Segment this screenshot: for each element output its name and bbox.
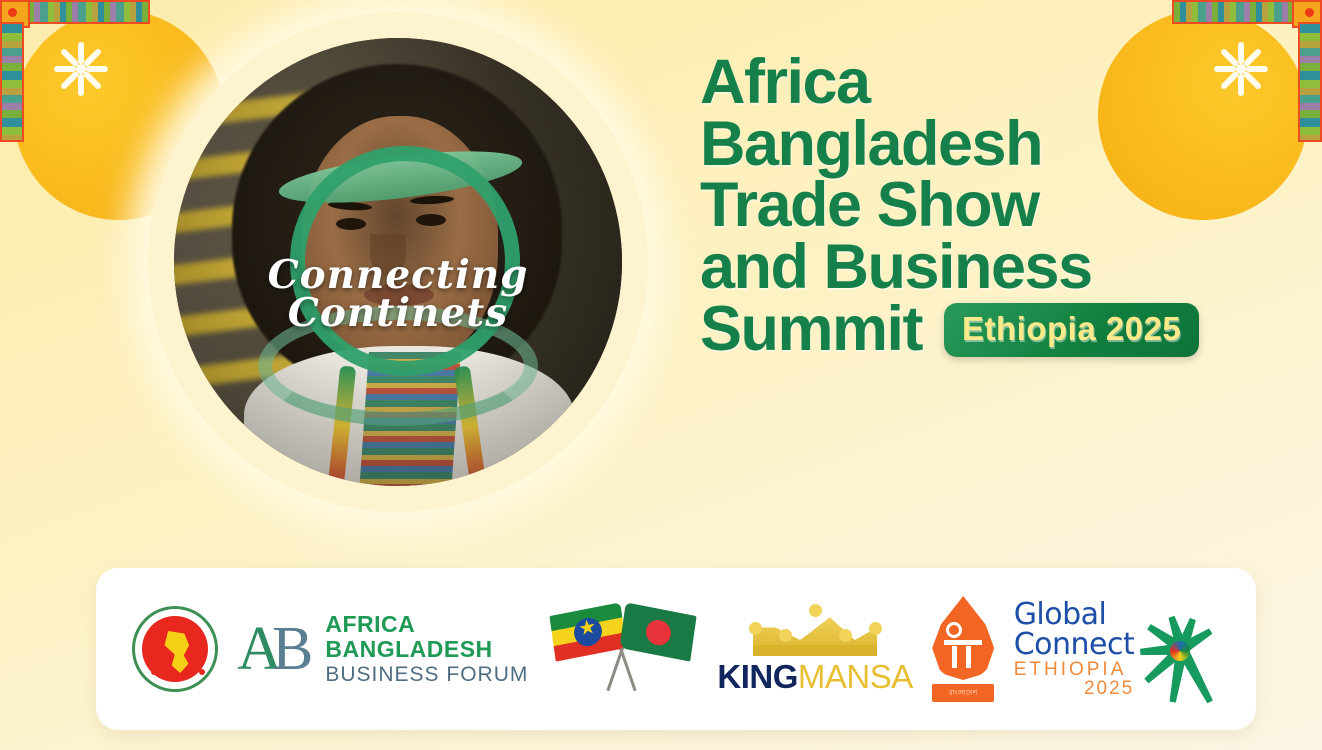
- hero-photo: Connecting Continets: [174, 38, 622, 486]
- woven-border-horizontal: [0, 0, 150, 24]
- sponsor-bar: AB AFRICA BANGLADESH BUSINESS FORUM: [96, 568, 1256, 730]
- abf-line-2: BANGLADESH: [325, 637, 528, 662]
- red-dot-icon: [1305, 8, 1314, 17]
- kingmansa-bold: KING: [717, 658, 798, 695]
- crown-icon: [745, 602, 885, 656]
- tagline: Connecting Continets: [174, 256, 622, 332]
- bangladesh-flag-icon: [619, 602, 696, 661]
- status-badge: Ethiopia 2025: [944, 303, 1199, 357]
- headline-line-3: Trade Show: [700, 175, 1280, 237]
- global-connect-line-1: Global: [1014, 600, 1135, 630]
- headline-line-4: and Business: [700, 237, 1280, 299]
- global-connect-line-4: 2025: [1014, 679, 1135, 698]
- headline-block: Africa Bangladesh Trade Show and Busines…: [700, 52, 1280, 361]
- flame-caption: বাংলাদেশ: [932, 684, 994, 702]
- event-poster: Connecting Continets Africa Bangladesh T…: [0, 0, 1322, 750]
- flower-starburst-icon: [50, 38, 112, 100]
- corner-decoration-top-left: [0, 0, 160, 145]
- sponsor-logo-flame-emblem[interactable]: বাংলাদেশ: [932, 596, 994, 702]
- crossed-flags-icon: [548, 603, 698, 695]
- bangladesh-map-icon: [163, 631, 193, 673]
- sponsor-logo-kingmansa[interactable]: KINGMANSA: [717, 602, 912, 696]
- bangladesh-government-seal-icon: [132, 606, 218, 692]
- headline-line-5: Summit: [700, 299, 922, 361]
- woven-border-vertical: [0, 22, 24, 142]
- abf-monogram-icon: AB: [237, 618, 315, 680]
- woven-border-horizontal: [1172, 0, 1322, 24]
- page-title: Africa Bangladesh Trade Show and Busines…: [700, 52, 1280, 361]
- global-connect-line-3: ETHIOPIA: [1014, 660, 1135, 679]
- sponsor-logo-global-connect-ethiopia[interactable]: Global Connect ETHIOPIA 2025: [1014, 600, 1221, 698]
- sponsor-logo-crossed-flags[interactable]: [548, 603, 698, 695]
- kingmansa-light: MANSA: [798, 658, 913, 695]
- radial-burst-icon: [1138, 603, 1220, 695]
- global-connect-line-2: Connect: [1014, 630, 1135, 660]
- sponsor-logo-africa-bangladesh-business-forum[interactable]: AB AFRICA BANGLADESH BUSINESS FORUM: [237, 612, 528, 686]
- woven-border-vertical: [1298, 22, 1322, 142]
- abf-line-3: BUSINESS FORUM: [325, 663, 528, 686]
- tagline-line-2: Continets: [174, 294, 622, 332]
- headline-line-2: Bangladesh: [700, 114, 1280, 176]
- abf-line-1: AFRICA: [325, 612, 528, 637]
- tagline-line-1: Connecting: [174, 256, 622, 294]
- hero-photo-frame: Connecting Continets: [148, 12, 648, 512]
- sponsor-logo-bangladesh-government[interactable]: [132, 606, 218, 692]
- flame-icon: [932, 596, 994, 680]
- ethiopia-flag-icon: [549, 602, 626, 661]
- headline-line-1: Africa: [700, 52, 1280, 114]
- red-dot-icon: [8, 8, 17, 17]
